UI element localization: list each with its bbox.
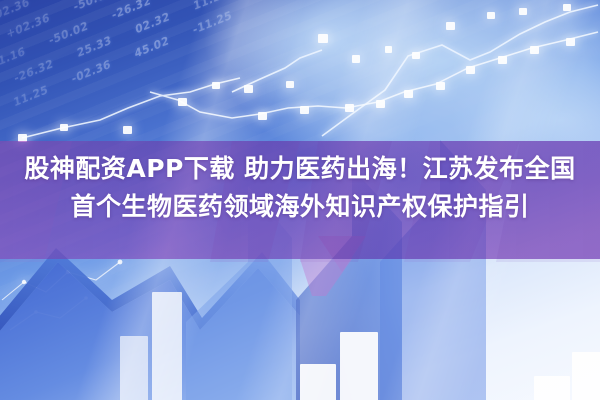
- news-cover-banner: -02.36 -11.25 +45.02 21.36 45.02 +02.36 …: [0, 0, 600, 400]
- headline-line-2: 首个生物医药领域海外知识产权保护指引: [0, 188, 600, 226]
- headline-line-1: 股神配资APP下载 助力医药出海！江苏发布全国: [0, 150, 600, 188]
- headline: 股神配资APP下载 助力医药出海！江苏发布全国 首个生物医药领域海外知识产权保护…: [0, 150, 600, 226]
